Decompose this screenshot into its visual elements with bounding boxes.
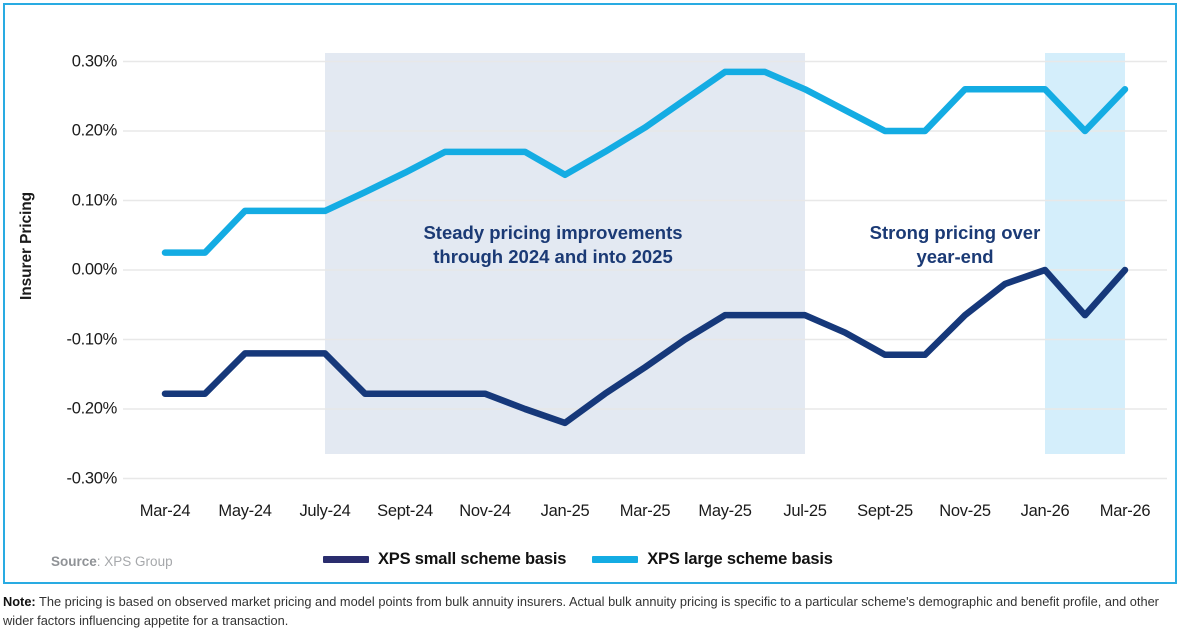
- source-value: XPS Group: [104, 554, 172, 569]
- x-tick-label: May-24: [218, 502, 271, 521]
- y-tick-label: -0.30%: [41, 469, 117, 488]
- x-tick-label: Nov-24: [459, 502, 510, 521]
- legend-label-small-scheme: XPS small scheme basis: [378, 550, 566, 569]
- footnote-label: Note:: [3, 594, 36, 609]
- plot-area: Insurer Pricing 0.30%0.20%0.10%0.00%-0.1…: [5, 5, 1175, 582]
- x-tick-label: Mar-24: [140, 502, 190, 521]
- year-end-annotation: Strong pricing over year-end: [830, 221, 1080, 268]
- legend-item-large-scheme[interactable]: XPS large scheme basis: [592, 550, 832, 569]
- y-tick-label: -0.20%: [41, 400, 117, 419]
- steady-pricing-annotation: Steady pricing improvements through 2024…: [373, 221, 733, 268]
- x-tick-label: Nov-25: [939, 502, 990, 521]
- x-tick-label: Sept-24: [377, 502, 433, 521]
- legend-swatch-large-scheme: [592, 556, 638, 563]
- x-tick-label: May-25: [698, 502, 751, 521]
- x-tick-label: Jul-25: [783, 502, 826, 521]
- x-tick-label: Mar-25: [620, 502, 670, 521]
- footnote: Note: The pricing is based on observed m…: [3, 593, 1177, 631]
- source-prefix: Source: [51, 554, 97, 569]
- x-tick-label: Jan-25: [541, 502, 590, 521]
- y-tick-label: 0.00%: [41, 261, 117, 280]
- y-tick-label: -0.10%: [41, 330, 117, 349]
- x-tick-label: Mar-26: [1100, 502, 1150, 521]
- y-tick-label: 0.10%: [41, 191, 117, 210]
- legend-item-small-scheme[interactable]: XPS small scheme basis: [323, 550, 566, 569]
- y-axis-title: Insurer Pricing: [18, 161, 36, 331]
- chart-card: Insurer Pricing 0.30%0.20%0.10%0.00%-0.1…: [3, 3, 1177, 584]
- y-tick-label: 0.20%: [41, 122, 117, 141]
- legend-swatch-small-scheme: [323, 556, 369, 563]
- x-tick-label: Sept-25: [857, 502, 913, 521]
- chart-page: Insurer Pricing 0.30%0.20%0.10%0.00%-0.1…: [0, 0, 1180, 639]
- source-label: Source: XPS Group: [51, 554, 173, 569]
- x-tick-label: July-24: [299, 502, 350, 521]
- footnote-text: The pricing is based on observed market …: [3, 594, 1159, 628]
- legend-label-large-scheme: XPS large scheme basis: [647, 550, 832, 569]
- x-tick-label: Jan-26: [1021, 502, 1070, 521]
- y-axis-ticks: 0.30%0.20%0.10%0.00%-0.10%-0.20%-0.30%: [37, 5, 117, 582]
- chart-legend: XPS small scheme basis XPS large scheme …: [323, 550, 833, 569]
- line-chart-svg: [5, 5, 1175, 582]
- y-tick-label: 0.30%: [41, 52, 117, 71]
